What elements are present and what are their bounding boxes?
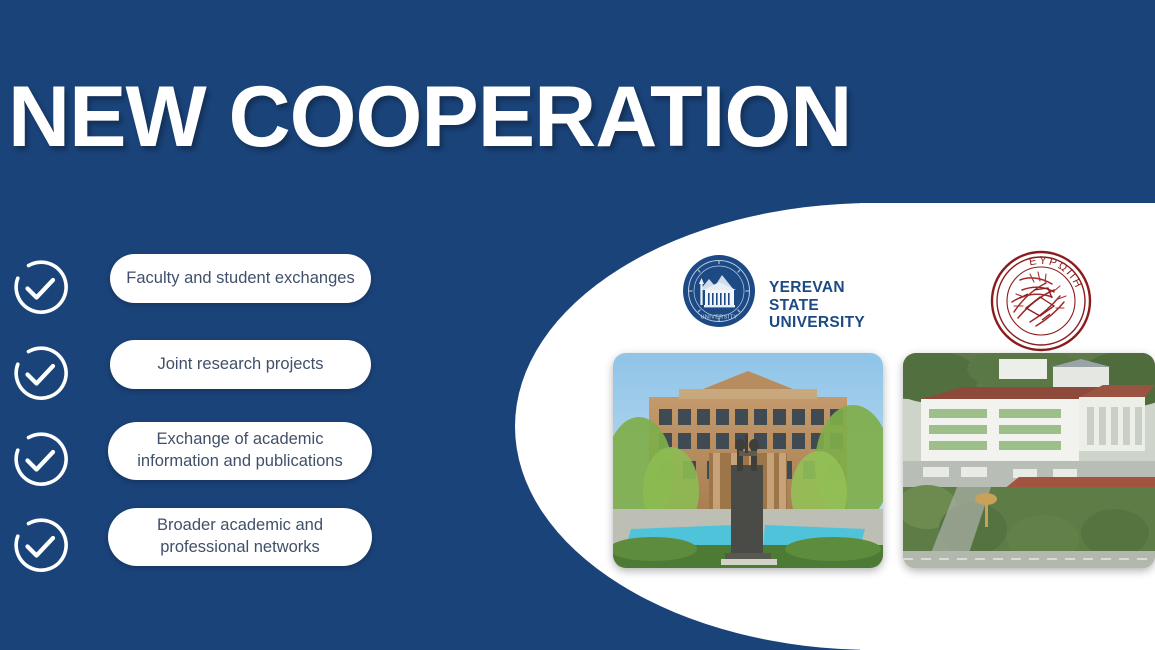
benefit-pill: Joint research projects	[110, 340, 371, 389]
yerevan-state-university-building-photo	[613, 353, 883, 568]
benefit-pill: Faculty and student exchanges	[110, 254, 371, 303]
benefit-label-line2: information and publications	[137, 452, 342, 470]
ysu-wordmark-line3: UNIVERSITY	[769, 314, 865, 332]
benefits-list: Faculty and student exchanges Joint rese…	[0, 250, 500, 594]
page-title: NEW COOPERATION	[8, 74, 851, 160]
yerevan-state-university-logo: UNIVERSITY	[682, 254, 756, 328]
partner-university-campus-aerial-photo	[903, 353, 1155, 568]
list-item: Faculty and student exchanges	[0, 250, 500, 336]
benefit-label-line2: professional networks	[160, 538, 320, 556]
benefit-pill: Broader academic and professional networ…	[108, 508, 372, 566]
benefit-label: Faculty and student exchanges	[126, 268, 354, 290]
slide-root: NEW COOPERATION Faculty and student exch…	[0, 0, 1155, 650]
check-circle-icon	[11, 259, 69, 317]
benefit-pill: Exchange of academic information and pub…	[108, 422, 372, 480]
benefit-label-line1: Exchange of academic	[157, 430, 324, 448]
list-item: Joint research projects	[0, 336, 500, 422]
benefit-label-line1: Broader academic and	[157, 516, 323, 534]
list-item: Exchange of academic information and pub…	[0, 422, 500, 508]
check-circle-icon	[11, 517, 69, 575]
ysu-wordmark-line2: STATE	[769, 297, 865, 315]
ysu-wordmark-line1: YEREVAN	[769, 279, 865, 297]
partner-university-seal: ΕΥΡΩΠΗ	[990, 250, 1092, 352]
svg-text:UNIVERSITY: UNIVERSITY	[700, 315, 737, 321]
benefit-label: Joint research projects	[158, 354, 324, 376]
list-item: Broader academic and professional networ…	[0, 508, 500, 594]
benefit-label: Exchange of academic information and pub…	[137, 429, 342, 473]
check-circle-icon	[11, 345, 69, 403]
benefit-label: Broader academic and professional networ…	[157, 515, 323, 559]
ysu-wordmark: YEREVAN STATE UNIVERSITY	[769, 279, 865, 332]
check-circle-icon	[11, 431, 69, 489]
